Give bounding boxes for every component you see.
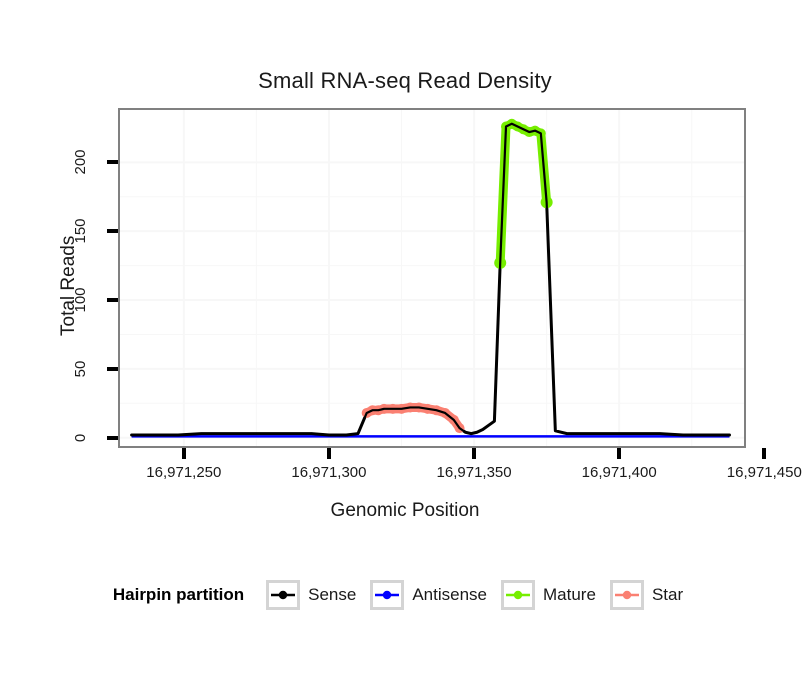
x-tick-mark <box>762 448 766 459</box>
chart-page: Small RNA-seq Read Density Total Reads 0… <box>0 0 810 690</box>
legend-key-icon <box>610 580 644 610</box>
y-tick-label: 0 <box>70 413 92 463</box>
y-tick-label: 50 <box>70 344 92 394</box>
x-tick-mark <box>182 448 186 459</box>
y-tick-mark <box>107 298 118 302</box>
x-tick-mark <box>472 448 476 459</box>
y-tick-label: 200 <box>70 137 92 187</box>
y-tick-label: 150 <box>70 206 92 256</box>
legend-label: Mature <box>543 585 596 605</box>
legend-key-icon <box>501 580 535 610</box>
legend-item-sense[interactable]: Sense <box>266 580 356 610</box>
plot-panel <box>118 108 746 448</box>
x-axis-label: Genomic Position <box>0 500 810 522</box>
legend-items: SenseAntisenseMatureStar <box>266 580 697 610</box>
legend-title: Hairpin partition <box>113 585 244 605</box>
y-tick-label: 100 <box>70 275 92 325</box>
legend-label: Antisense <box>412 585 487 605</box>
legend-item-star[interactable]: Star <box>610 580 683 610</box>
legend-label: Star <box>652 585 683 605</box>
legend: Hairpin partition SenseAntisenseMatureSt… <box>0 580 810 610</box>
y-tick-mark <box>107 160 118 164</box>
read-density-plot <box>120 110 744 446</box>
legend-label: Sense <box>308 585 356 605</box>
x-tick-label: 16,971,350 <box>414 464 534 481</box>
legend-item-mature[interactable]: Mature <box>501 580 596 610</box>
x-tick-label: 16,971,300 <box>269 464 389 481</box>
x-tick-label: 16,971,250 <box>124 464 244 481</box>
x-tick-label: 16,971,400 <box>559 464 679 481</box>
x-tick-label: 16,971,450 <box>704 464 810 481</box>
x-tick-mark <box>617 448 621 459</box>
y-tick-mark <box>107 436 118 440</box>
y-tick-mark <box>107 367 118 371</box>
page-title: Small RNA-seq Read Density <box>0 68 810 94</box>
x-tick-mark <box>327 448 331 459</box>
legend-key-icon <box>266 580 300 610</box>
legend-item-antisense[interactable]: Antisense <box>370 580 487 610</box>
legend-key-icon <box>370 580 404 610</box>
plot-area <box>120 110 744 446</box>
y-tick-mark <box>107 229 118 233</box>
